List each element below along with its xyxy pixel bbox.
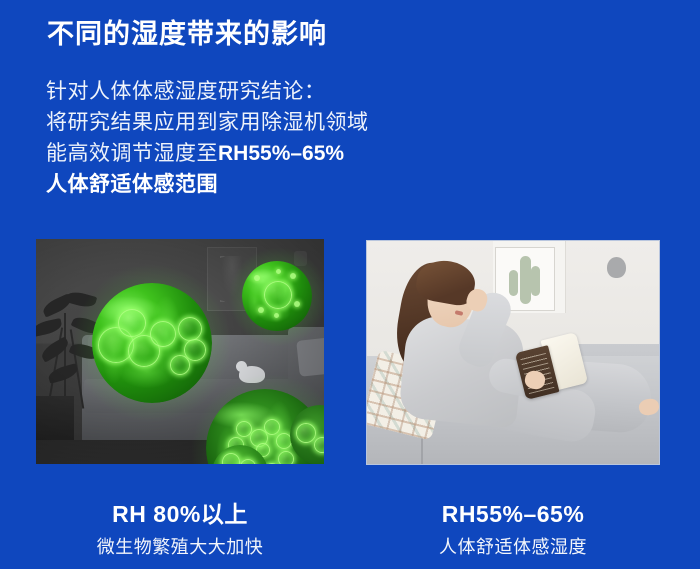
bright-room-scene [367,241,659,464]
intro-paragraph: 针对人体体感湿度研究结论： 将研究结果应用到家用除湿机领域 能高效调节湿度至RH… [46,76,466,200]
intro-line-3: 能高效调节湿度至RH55%–65% [46,138,466,169]
caption-left-subtitle: 微生物繁殖大大加快 [36,536,324,559]
caption-comfort-humidity: RH55%–65% 人体舒适体感湿度 [366,500,660,559]
intro-line-1: 针对人体体感湿度研究结论： [46,76,466,107]
wall-speaker-icon [607,257,626,278]
page-title: 不同的湿度带来的影响 [47,18,327,50]
caption-left-title: RH 80%以上 [36,500,324,529]
caption-high-humidity: RH 80%以上 微生物繁殖大大加快 [36,500,324,559]
intro-line-3-prefix: 能高效调节湿度至 [46,142,218,165]
caption-right-subtitle: 人体舒适体感湿度 [366,536,660,559]
germ-sphere-top [242,261,312,331]
humidity-range-emphasis: RH55%–65% [218,142,344,165]
caption-right-title: RH55%–65% [366,500,660,529]
intro-line-2: 将研究结果应用到家用除湿机领域 [46,107,466,138]
poster-root: 不同的湿度带来的影响 针对人体体感湿度研究结论： 将研究结果应用到家用除湿机领域… [0,0,700,569]
intro-line-4: 人体舒适体感范围 [46,169,466,200]
photo-high-humidity [36,239,324,464]
photo-comfort-humidity [366,240,660,465]
dark-room-scene [36,239,324,464]
germ-sphere-large [92,283,212,403]
